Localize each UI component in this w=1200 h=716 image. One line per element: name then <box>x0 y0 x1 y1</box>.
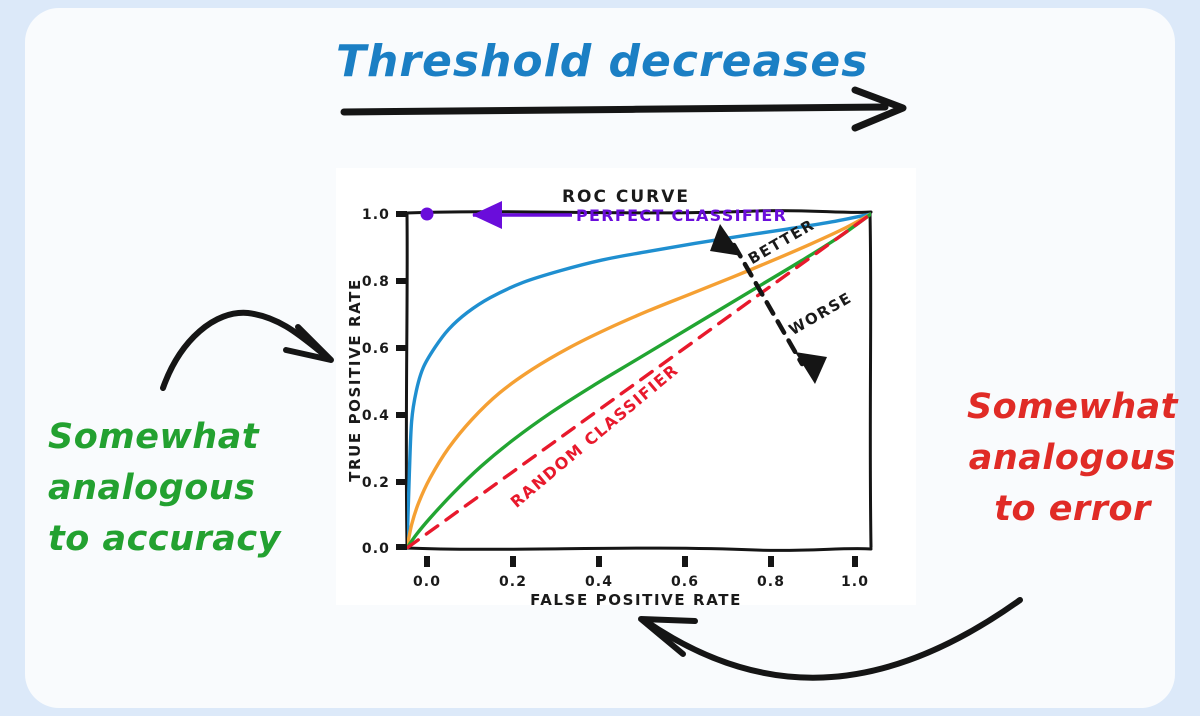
x-axis-title: FALSE POSITIVE RATE <box>530 591 742 605</box>
headline-threshold-decreases: Threshold decreases <box>336 34 896 90</box>
note-analogous-to-error: Somewhat analogous to error <box>955 382 1190 534</box>
random-classifier-label: RANDOM CLASSIFIER <box>507 360 682 511</box>
roc-chart-panel: ROC CURVE 1.0 0.8 0.6 0.4 0.2 <box>336 168 916 605</box>
y-tick-label-4: 0.4 <box>362 408 390 424</box>
y-tick-label-2: 0.8 <box>362 274 390 290</box>
chart-title: ROC CURVE <box>562 187 690 207</box>
roc-curve-series-3 <box>407 214 871 548</box>
roc-curve-series-group <box>407 214 871 548</box>
y-tick-label-1: 1.0 <box>362 207 390 223</box>
x-tick-label-5: 0.8 <box>757 574 785 590</box>
x-tick-label-4: 0.6 <box>671 574 699 590</box>
y-tick-label-5: 0.2 <box>362 475 390 491</box>
y-axis-title: TRUE POSITIVE RATE <box>346 278 364 482</box>
worse-label: WORSE <box>786 288 856 339</box>
x-tick-label-6: 1.0 <box>841 574 869 590</box>
perfect-classifier-label: PERFECT CLASSIFIER <box>576 206 787 225</box>
note-analogous-to-accuracy: Somewhat analogous to accuracy <box>48 412 328 564</box>
infographic-root: Threshold decreases Somewhat analogous t… <box>0 0 1200 716</box>
x-tick-label-1: 0.0 <box>413 574 441 590</box>
perfect-classifier-arrowhead <box>472 201 502 229</box>
y-axis-ticks: 1.0 0.8 0.6 0.4 0.2 0.0 <box>362 207 407 557</box>
roc-chart: ROC CURVE 1.0 0.8 0.6 0.4 0.2 <box>336 168 916 605</box>
x-tick-label-3: 0.4 <box>585 574 613 590</box>
better-arrowhead <box>710 224 742 256</box>
y-tick-label-3: 0.6 <box>362 341 390 357</box>
worse-arrowhead <box>795 352 827 384</box>
y-tick-label-6: 0.0 <box>362 541 390 557</box>
perfect-classifier-callout: PERFECT CLASSIFIER <box>421 201 788 229</box>
x-axis-ticks: 0.0 0.2 0.4 0.6 0.8 1.0 <box>413 556 869 590</box>
x-tick-label-2: 0.2 <box>499 574 527 590</box>
perfect-classifier-point <box>421 208 434 221</box>
